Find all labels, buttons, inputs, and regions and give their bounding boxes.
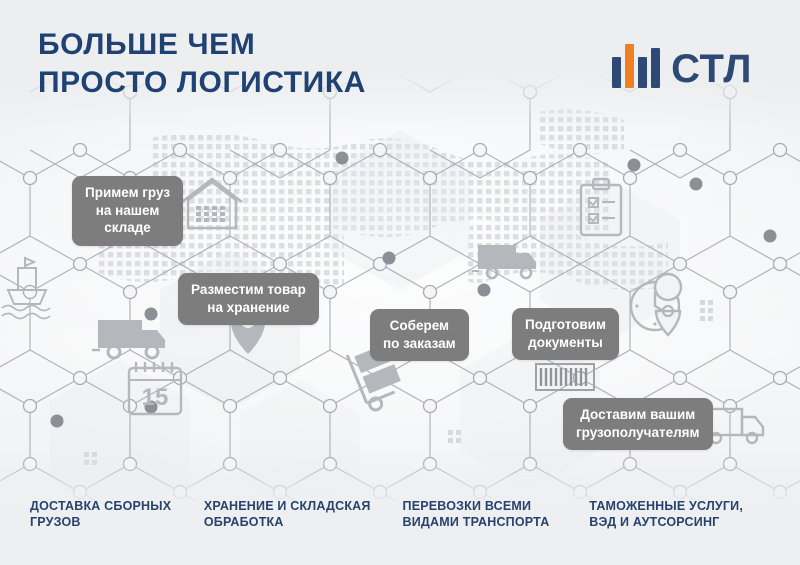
service-labels-row: ДОСТАВКА СБОРНЫХ ГРУЗОВ ХРАНЕНИЕ И СКЛАД… xyxy=(30,498,778,532)
logo-bar-1 xyxy=(612,57,621,88)
calendar-day-number: 15 xyxy=(142,384,169,411)
logo-bar-2-accent xyxy=(625,44,634,88)
page-title: БОЛЬШЕ ЧЕМ ПРОСТО ЛОГИСТИКА xyxy=(38,26,366,102)
callout-bubble-picking: Соберем по заказам xyxy=(370,309,469,361)
truck-icon-left xyxy=(92,320,165,358)
service-label-customs: ТАМОЖЕННЫЕ УСЛУГИ, ВЭД И АУТСОРСИНГ xyxy=(589,498,778,532)
infographic-poster: 15 xyxy=(0,0,800,565)
logo-wordmark: СТЛ xyxy=(671,50,752,88)
logo-bars-icon xyxy=(612,44,660,88)
callout-bubble-storage: Разместим товар на хранение xyxy=(178,273,319,325)
service-label-delivery: ДОСТАВКА СБОРНЫХ ГРУЗОВ xyxy=(30,498,204,532)
logo-bar-3 xyxy=(638,57,647,88)
logo-bar-4 xyxy=(651,48,660,88)
callout-bubble-documents: Подготовим документы xyxy=(512,308,619,360)
callout-bubble-delivery: Доставим вашим грузополучателям xyxy=(563,398,713,450)
service-label-warehousing: ХРАНЕНИЕ И СКЛАДСКАЯ ОБРАБОТКА xyxy=(204,498,403,532)
callout-bubble-intake: Примем груз на нашем складе xyxy=(72,176,183,246)
company-logo: СТЛ xyxy=(612,44,752,88)
header: БОЛЬШЕ ЧЕМ ПРОСТО ЛОГИСТИКА xyxy=(38,26,366,102)
service-label-transport: ПЕРЕВОЗКИ ВСЕМИ ВИДАМИ ТРАНСПОРТА xyxy=(403,498,590,532)
